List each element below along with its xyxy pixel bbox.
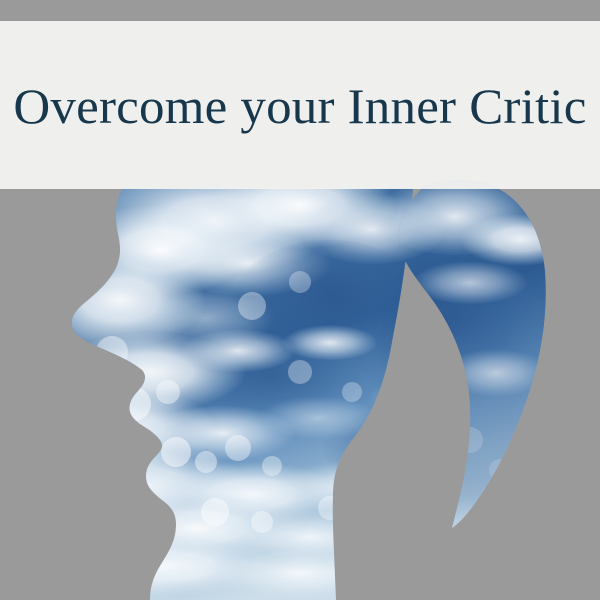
title-band: Overcome your Inner Critic <box>0 21 600 189</box>
page-title: Overcome your Inner Critic <box>13 81 586 131</box>
top-gray-strip <box>0 0 600 21</box>
poster-canvas: Overcome your Inner Critic <box>0 0 600 600</box>
